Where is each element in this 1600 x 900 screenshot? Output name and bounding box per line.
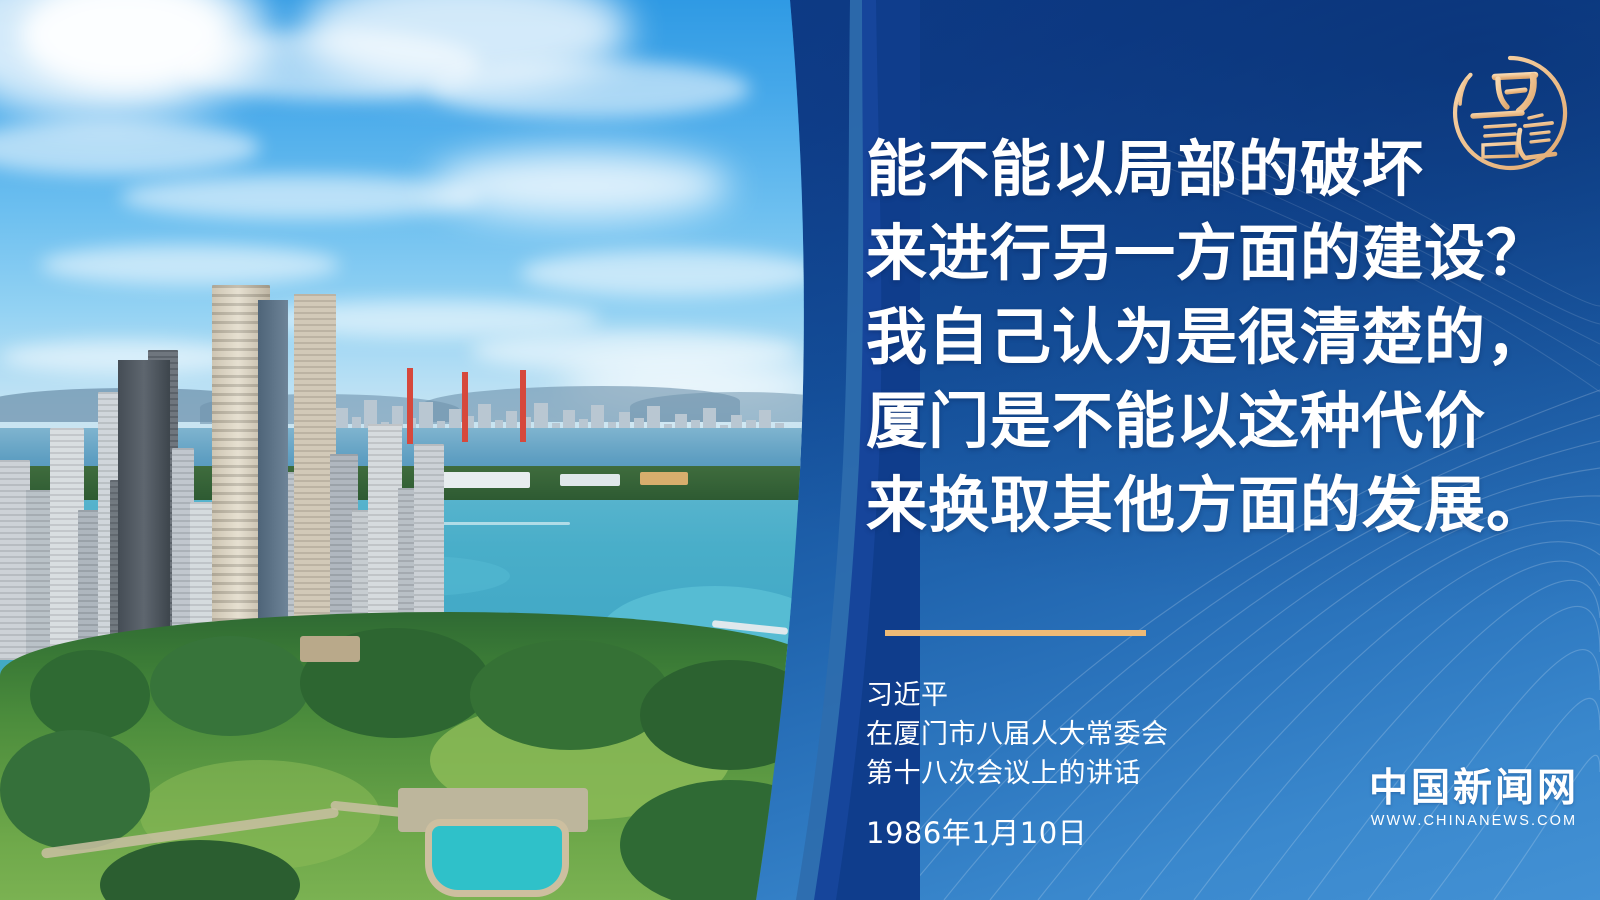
attribution-occasion-line-1: 在厦门市八届人大常委会 (866, 715, 1426, 754)
quote-line-1: 能不能以局部的破坏 (866, 128, 1566, 212)
quote-line-3: 我自己认为是很清楚的， (866, 296, 1566, 380)
poster-root: 能不能以局部的破坏 来进行另一方面的建设？ 我自己认为是很清楚的， 厦门是不能以… (0, 0, 1600, 900)
chinanews-watermark: 中国新闻网 WWW.CHINANEWS.COM (1366, 766, 1582, 829)
quote-line-5: 来换取其他方面的发展。 (866, 464, 1566, 548)
attribution-block: 习近平 在厦门市八届人大常委会 第十八次会议上的讲话 1986年1月10日 (866, 676, 1426, 851)
attribution-occasion-line-2: 第十八次会议上的讲话 (866, 754, 1426, 793)
quote-line-4: 厦门是不能以这种代价 (866, 380, 1566, 464)
photo-fountain-pool (432, 826, 562, 890)
watermark-url: WWW.CHINANEWS.COM (1366, 813, 1582, 829)
gold-divider-rule (885, 630, 1146, 636)
photo-xiamen-aerial (0, 0, 816, 900)
quote-block: 能不能以局部的破坏 来进行另一方面的建设？ 我自己认为是很清楚的， 厦门是不能以… (866, 128, 1566, 548)
watermark-name: 中国新闻网 (1366, 766, 1582, 810)
attribution-date: 1986年1月10日 (866, 815, 1426, 851)
quote-line-2: 来进行另一方面的建设？ (866, 212, 1566, 296)
attribution-speaker: 习近平 (866, 676, 1426, 715)
